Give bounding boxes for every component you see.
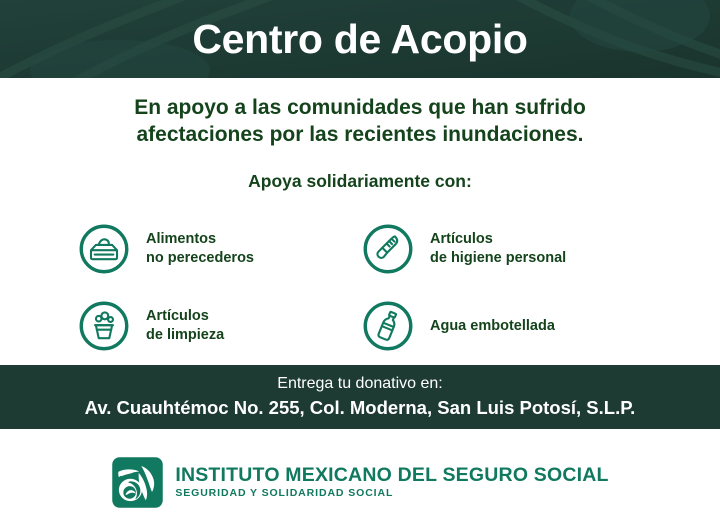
imss-logo-block: INSTITUTO MEXICANO DEL SEGURO SOCIAL SEG…: [0, 429, 720, 527]
donation-item-agua: Agua embotellada: [362, 288, 646, 365]
donation-item-label: Agua embotellada: [430, 317, 555, 336]
address-text: Av. Cuauhtémoc No. 255, Col. Moderna, Sa…: [85, 396, 636, 420]
main-content: En apoyo a las comunidades que han sufri…: [0, 78, 720, 365]
page-title: Centro de Acopio: [192, 19, 527, 60]
donation-item-label: Artículos de limpieza: [146, 307, 224, 345]
donation-items-grid: Alimentos no perecederos Artículos de hi…: [0, 211, 720, 365]
header-band: Centro de Acopio: [0, 0, 720, 78]
donation-item-higiene: Artículos de higiene personal: [362, 211, 646, 288]
imss-subtitle: SEGURIDAD Y SOLIDARIDAD SOCIAL: [175, 488, 608, 500]
toothbrush-icon: [362, 223, 414, 275]
intro-line-2: afectaciones por las recientes inundacio…: [40, 121, 680, 148]
donation-item-limpieza: Artículos de limpieza: [78, 288, 362, 365]
intro-line-1: En apoyo a las comunidades que han sufri…: [40, 94, 680, 121]
donation-item-label: Artículos de higiene personal: [430, 230, 566, 268]
poster-canvas: Centro de Acopio En apoyo a las comunida…: [0, 0, 720, 527]
imss-logo-text: INSTITUTO MEXICANO DEL SEGURO SOCIAL SEG…: [175, 465, 608, 499]
donation-item-label: Alimentos no perecederos: [146, 230, 254, 268]
intro-block: En apoyo a las comunidades que han sufri…: [0, 94, 720, 149]
address-band: Entrega tu donativo en: Av. Cuauhtémoc N…: [0, 365, 720, 429]
imss-title: INSTITUTO MEXICANO DEL SEGURO SOCIAL: [175, 465, 608, 485]
water-bottle-icon: [362, 300, 414, 352]
canned-food-icon: [78, 223, 130, 275]
cleaning-bucket-icon: [78, 300, 130, 352]
donation-subtitle: Apoya solidariamente con:: [0, 171, 720, 192]
donation-item-alimentos: Alimentos no perecederos: [78, 211, 362, 288]
address-lead-text: Entrega tu donativo en:: [277, 374, 442, 394]
imss-eagle-mother-child-icon: [111, 456, 164, 509]
